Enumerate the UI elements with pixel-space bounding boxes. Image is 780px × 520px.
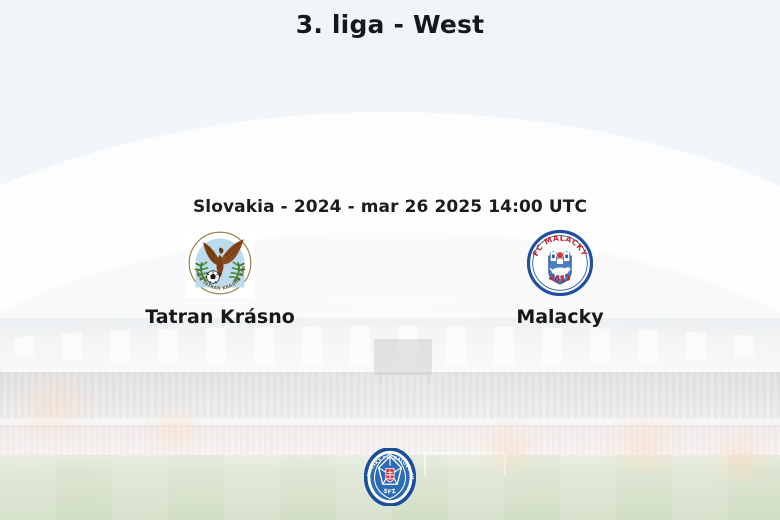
tatran-krasno-crest-icon: MSK TATRAN KRASNO NAD KYSUCOU bbox=[185, 228, 255, 298]
slovak-football-federation-logo-icon: SLOVENSKY FUTBALOVY ZVAZ SFZ bbox=[364, 448, 416, 506]
home-team[interactable]: MSK TATRAN KRASNO NAD KYSUCOU Tatran Krá… bbox=[50, 228, 390, 328]
match-preview-content: 3. liga - West Slovakia - 2024 - mar 26 … bbox=[0, 0, 780, 520]
league-title: 3. liga - West bbox=[0, 10, 780, 39]
match-preview-card: 3. liga - West Slovakia - 2024 - mar 26 … bbox=[0, 0, 780, 520]
malacky-crest-icon: FC MALACKY 2013 bbox=[525, 228, 595, 298]
match-meta-line: Slovakia - 2024 - mar 26 2025 14:00 UTC bbox=[0, 197, 780, 217]
teams-row: MSK TATRAN KRASNO NAD KYSUCOU Tatran Krá… bbox=[0, 228, 780, 328]
away-team[interactable]: FC MALACKY 2013 Malacky bbox=[390, 228, 730, 328]
away-team-name: Malacky bbox=[516, 306, 603, 328]
home-team-name: Tatran Krásno bbox=[145, 306, 295, 328]
